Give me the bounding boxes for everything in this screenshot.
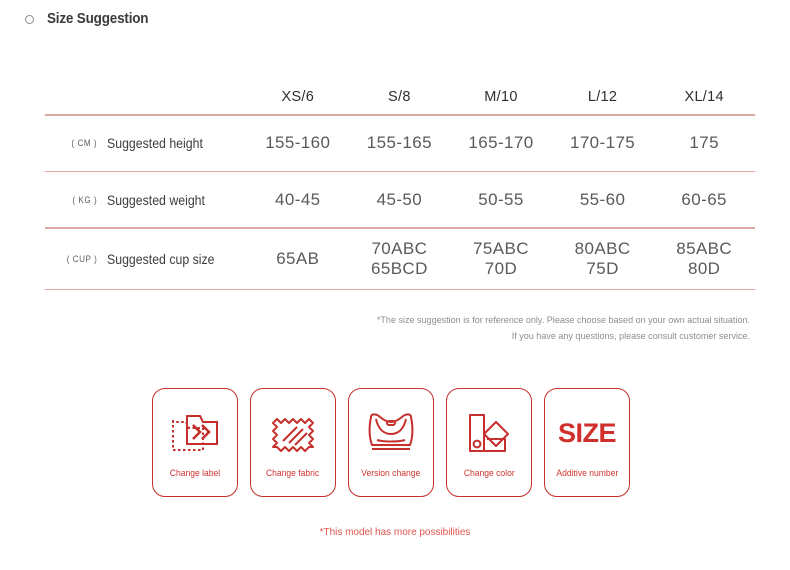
row-unit-cell: ( CM ): [45, 116, 107, 171]
feature-card-list: Change label Change fabric Version chang: [152, 388, 630, 497]
table-cell: 85ABC 80D: [653, 229, 755, 289]
row-unit-label: ( CUP ): [67, 254, 98, 264]
table-cell: 80ABC 75D: [552, 229, 654, 289]
table-row: ( CUP ) Suggested cup size 65AB 70ABC 65…: [45, 229, 755, 289]
cell-value: 40-45: [275, 190, 320, 210]
cell-value: 85ABC: [676, 239, 732, 259]
row-title-label: Suggested weight: [107, 192, 205, 208]
feature-card-change-fabric[interactable]: Change fabric: [250, 388, 336, 497]
column-header-label: XS/6: [281, 89, 314, 105]
cell-value: 75ABC: [473, 239, 529, 259]
table-cell: 70ABC 65BCD: [349, 229, 451, 289]
table-cell: 165-170: [450, 116, 552, 171]
row-unit-cell: ( CUP ): [45, 229, 107, 289]
column-header-label: XL/14: [684, 89, 723, 105]
column-header-m: M/10: [450, 80, 552, 114]
table-cell: 65AB: [247, 229, 349, 289]
feature-card-label: Version change: [362, 468, 421, 479]
table-cell: 60-65: [653, 172, 755, 227]
cell-value: 60-65: [681, 190, 726, 210]
feature-card-change-color[interactable]: Change color: [446, 388, 532, 497]
column-header-xs: XS/6: [247, 80, 349, 114]
feature-card-label: Change label: [170, 468, 220, 479]
table-divider: [45, 289, 755, 291]
column-header-xl: XL/14: [653, 80, 755, 114]
header-label-spacer: [107, 80, 247, 114]
cell-value: 70ABC: [371, 239, 427, 259]
feature-card-additive-number[interactable]: SIZE Additive number: [544, 388, 630, 497]
cell-value-secondary: 70D: [485, 259, 517, 279]
disclaimer-line-2: If you have any questions, please consul…: [304, 329, 751, 345]
sports-bra-icon: [363, 404, 419, 462]
cell-value: 55-60: [580, 190, 625, 210]
color-swatch-icon: [464, 404, 514, 462]
row-title-cell: Suggested weight: [107, 172, 247, 227]
table-cell: 175: [653, 116, 755, 171]
page-title-row: Size Suggestion: [25, 11, 156, 27]
table-cell: 50-55: [450, 172, 552, 227]
table-cell: 45-50: [349, 172, 451, 227]
feature-card-label: Change fabric: [266, 468, 319, 479]
cell-value: 65AB: [276, 249, 319, 269]
disclaimer-text: *The size suggestion is for reference on…: [304, 313, 751, 346]
cell-value-secondary: 80D: [688, 259, 720, 279]
table-cell: 155-165: [349, 116, 451, 171]
column-header-l: L/12: [552, 80, 654, 114]
table-row: ( KG ) Suggested weight 40-45 45-50 50-5…: [45, 172, 755, 227]
cell-value: 80ABC: [575, 239, 631, 259]
table-cell: 155-160: [247, 116, 349, 171]
cell-value-secondary: 65BCD: [371, 259, 428, 279]
size-text-icon: SIZE: [558, 404, 616, 462]
cell-value-secondary: 75D: [586, 259, 618, 279]
header-unit-spacer: [45, 80, 107, 114]
row-title-label: Suggested height: [107, 135, 203, 151]
row-unit-cell: ( KG ): [45, 172, 107, 227]
cell-value: 50-55: [478, 190, 523, 210]
column-header-label: M/10: [484, 89, 517, 105]
table-cell: 40-45: [247, 172, 349, 227]
table-cell: 75ABC 70D: [450, 229, 552, 289]
column-header-label: S/8: [388, 89, 411, 105]
page-title: Size Suggestion: [47, 11, 148, 27]
cell-value: 170-175: [570, 133, 635, 153]
cell-value: 155-165: [367, 133, 432, 153]
row-title-cell: Suggested height: [107, 116, 247, 171]
circle-outline-icon: [25, 15, 34, 24]
feature-card-change-label[interactable]: Change label: [152, 388, 238, 497]
footnote-text: *This model has more possibilities: [20, 526, 771, 538]
disclaimer-line-1: *The size suggestion is for reference on…: [304, 313, 751, 329]
table-row: ( CM ) Suggested height 155-160 155-165 …: [45, 116, 755, 171]
table-cell: 55-60: [552, 172, 654, 227]
size-suggestion-table: XS/6 S/8 M/10 L/12 XL/14 ( CM ) Suggeste…: [45, 80, 755, 290]
table-header-row: XS/6 S/8 M/10 L/12 XL/14: [45, 80, 755, 114]
cell-value: 45-50: [377, 190, 422, 210]
size-word-text: SIZE: [558, 404, 616, 462]
row-title-label: Suggested cup size: [107, 251, 215, 267]
cell-value: 155-160: [265, 133, 330, 153]
row-unit-label: ( KG ): [73, 195, 98, 205]
column-header-label: L/12: [588, 89, 617, 105]
table-cell: 170-175: [552, 116, 654, 171]
feature-card-label: Change color: [464, 468, 515, 479]
feature-card-label: Additive number: [556, 468, 618, 479]
row-title-cell: Suggested cup size: [107, 229, 247, 289]
cell-value: 165-170: [468, 133, 533, 153]
fabric-swatch-icon: [267, 404, 319, 462]
column-header-s: S/8: [349, 80, 451, 114]
feature-card-version-change[interactable]: Version change: [348, 388, 434, 497]
cell-value: 175: [689, 133, 719, 153]
folder-chevrons-icon: [169, 404, 221, 462]
row-unit-label: ( CM ): [72, 138, 98, 148]
